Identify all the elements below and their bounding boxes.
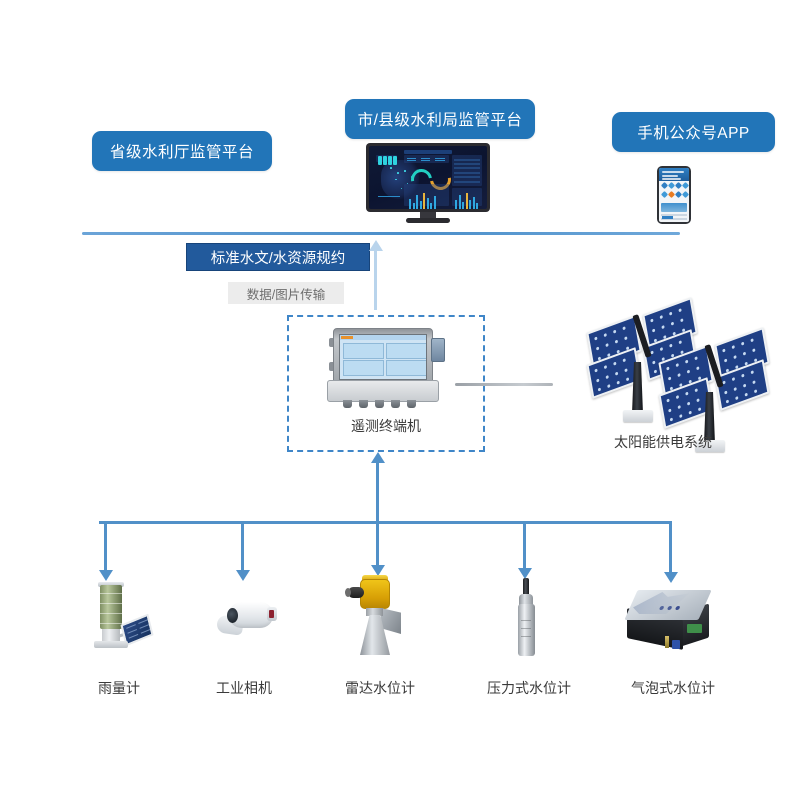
monitor-icon [366, 143, 490, 225]
uplink-arrow-icon [369, 240, 383, 310]
platform-card-app[interactable]: 手机公众号APP [612, 112, 775, 152]
rtu-base [327, 380, 439, 402]
platform-card-provincial[interactable]: 省级水利厅监管平台 [92, 131, 272, 171]
sensor-label-rain-gauge: 雨量计 [79, 678, 159, 698]
radar-level-icon [340, 575, 412, 655]
platform-card-city[interactable]: 市/县级水利局监管平台 [345, 99, 535, 139]
solar-system-label: 太阳能供电系统 [583, 432, 743, 452]
phone-body [657, 166, 691, 224]
drop-arrow-rain-gauge [99, 521, 113, 581]
rtu-label: 遥测终端机 [287, 416, 485, 436]
pressure-probe-icon [512, 578, 542, 656]
sensor-bus-line [99, 521, 671, 524]
rtu-device-icon [327, 328, 445, 406]
sensor-label-camera: 工业相机 [204, 678, 284, 698]
protocol-label: 标准水文/水资源规约 [211, 247, 346, 268]
system-topology-diagram: 省级水利厅监管平台 市/县级水利局监管平台 手机公众号APP [0, 0, 800, 800]
dashboard-screen [369, 146, 487, 209]
bubble-gauge-icon [625, 588, 717, 654]
rain-gauge-icon [82, 585, 156, 655]
drop-arrow-pressure [518, 521, 532, 579]
platform-label-provincial: 省级水利厅监管平台 [110, 140, 254, 162]
sensor-uplink-arrow-icon [371, 452, 385, 525]
rtu-shell [333, 328, 433, 386]
data-transfer-label: 数据/图片传输 [247, 284, 325, 303]
camera-icon [205, 598, 283, 646]
monitor-stand-base [406, 218, 450, 223]
drop-arrow-bubble [664, 521, 678, 583]
rtu-connector [431, 338, 445, 362]
phone-screen [659, 168, 689, 222]
platform-label-app: 手机公众号APP [637, 121, 750, 143]
rtu-display [339, 334, 427, 380]
drop-arrow-radar [371, 521, 385, 576]
protocol-badge: 标准水文/水资源规约 [186, 243, 370, 271]
network-backbone-line [82, 232, 680, 235]
sensor-label-radar: 雷达水位计 [335, 678, 425, 698]
smartphone-icon [657, 166, 691, 224]
drop-arrow-camera [236, 521, 250, 581]
platform-label-city: 市/县级水利局监管平台 [358, 108, 523, 130]
sensor-label-pressure: 压力式水位计 [474, 678, 584, 698]
data-transfer-badge: 数据/图片传输 [228, 282, 344, 304]
sensor-label-bubble: 气泡式水位计 [618, 678, 728, 698]
monitor-bezel [366, 143, 490, 212]
antenna-icon [455, 383, 553, 386]
